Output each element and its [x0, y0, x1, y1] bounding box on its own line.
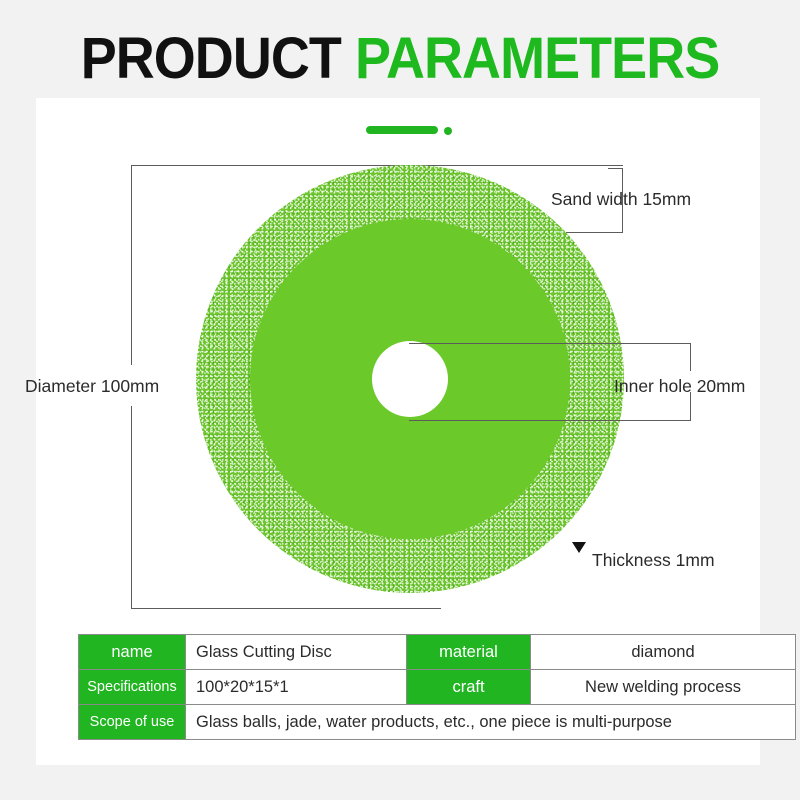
- page-title: PRODUCT PARAMETERS: [28, 28, 772, 90]
- cell-value-material: diamond: [531, 635, 796, 670]
- annotation-inner-hole: Inner hole 20mm: [614, 375, 745, 397]
- cell-value-name: Glass Cutting Disc: [186, 635, 407, 670]
- page-title-primary: PRODUCT: [81, 26, 341, 91]
- diameter-line-upper: [131, 165, 132, 365]
- diameter-line-bottom: [131, 608, 441, 609]
- annotation-diameter: Diameter 100mm: [25, 375, 159, 397]
- disc-inner-hole: [372, 341, 448, 417]
- page-title-secondary: PARAMETERS: [355, 26, 719, 91]
- inner-hole-leader-bottom: [409, 420, 690, 421]
- cell-key-craft: craft: [407, 670, 531, 705]
- cell-value-craft: New welding process: [531, 670, 796, 705]
- cell-value-scope-of-use: Glass balls, jade, water products, etc.,…: [186, 705, 796, 740]
- table-row: Specifications 100*20*15*1 craft New wel…: [79, 670, 796, 705]
- cell-value-specifications: 100*20*15*1: [186, 670, 407, 705]
- annotation-thickness: Thickness 1mm: [592, 549, 715, 571]
- inner-hole-leader-top: [409, 343, 690, 344]
- cell-key-specifications: Specifications: [79, 670, 186, 705]
- inner-hole-bracket-top: [690, 343, 691, 371]
- green-dot-accent-icon: [444, 127, 452, 135]
- thickness-arrow-icon: [572, 542, 586, 553]
- cell-key-name: name: [79, 635, 186, 670]
- table-row: name Glass Cutting Disc material diamond: [79, 635, 796, 670]
- specification-table: name Glass Cutting Disc material diamond…: [78, 634, 796, 740]
- annotation-sand-width: Sand width 15mm: [551, 188, 691, 210]
- green-pill-accent-icon: [366, 126, 438, 134]
- table-row: Scope of use Glass balls, jade, water pr…: [79, 705, 796, 740]
- diameter-line-lower: [131, 406, 132, 609]
- glass-cutting-disc-illustration: [196, 165, 624, 593]
- cell-key-scope-of-use: Scope of use: [79, 705, 186, 740]
- cell-key-material: material: [407, 635, 531, 670]
- infographic-stage: PRODUCT PARAMETERS Sand width 15mm Inner…: [0, 0, 800, 800]
